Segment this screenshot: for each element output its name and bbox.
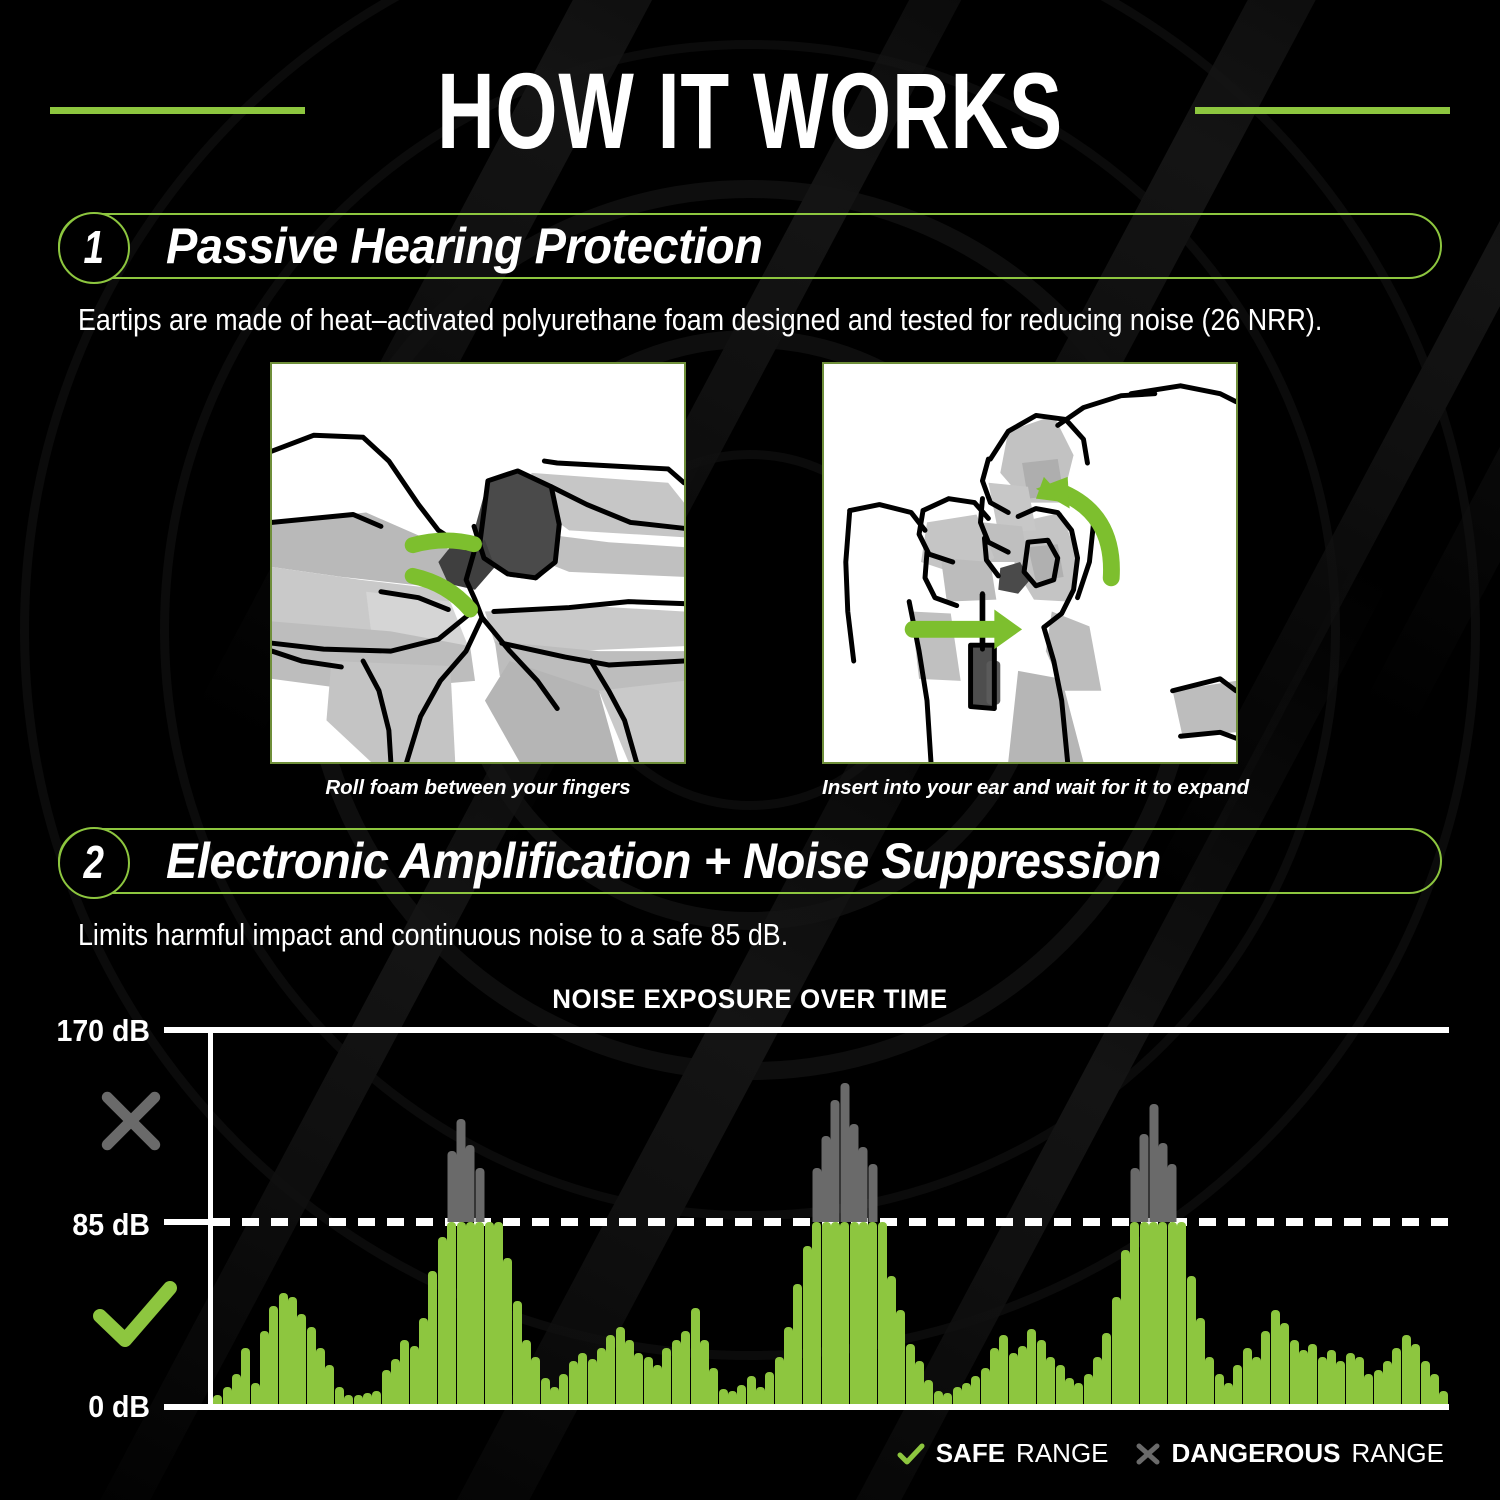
bar-slot	[1027, 1040, 1036, 1404]
bar-safe	[915, 1361, 924, 1404]
bar-safe	[934, 1391, 943, 1404]
bar-safe	[550, 1387, 559, 1404]
bar-slot	[952, 1040, 961, 1404]
bar-slot	[438, 1040, 447, 1404]
bar-slot	[1317, 1040, 1326, 1404]
bar-safe	[793, 1284, 802, 1404]
bar-safe	[372, 1391, 381, 1404]
bar-safe	[728, 1391, 737, 1404]
bar-safe	[1074, 1383, 1083, 1404]
bar-slot	[662, 1040, 671, 1404]
bar-safe	[672, 1340, 681, 1404]
bar-safe	[634, 1353, 643, 1404]
bar-slot	[1009, 1040, 1018, 1404]
title-rule-right	[1195, 107, 1450, 114]
bar-slot	[260, 1040, 269, 1404]
bar-slot	[709, 1040, 718, 1404]
bar-slot	[1205, 1040, 1214, 1404]
bar-slot	[896, 1040, 905, 1404]
caption-roll-foam: Roll foam between your fingers	[270, 776, 686, 800]
bar-safe	[1084, 1374, 1093, 1404]
bar-slot	[840, 1040, 849, 1404]
bar-safe	[1411, 1344, 1420, 1404]
bar-safe	[251, 1383, 260, 1404]
bar-safe	[241, 1348, 250, 1404]
y-tick-0: 0 dB	[12, 1389, 150, 1425]
bar-slot	[316, 1040, 325, 1404]
bar-slot	[456, 1040, 465, 1404]
bar-slot	[410, 1040, 419, 1404]
bar-safe	[700, 1340, 709, 1404]
bar-safe	[1121, 1250, 1130, 1404]
bar-safe	[503, 1258, 512, 1404]
bar-danger	[831, 1100, 840, 1222]
bar-safe	[344, 1395, 353, 1404]
bar-safe	[653, 1365, 662, 1404]
bar-safe	[316, 1348, 325, 1404]
bar-slot	[859, 1040, 868, 1404]
bar-slot	[690, 1040, 699, 1404]
bar-slot	[980, 1040, 989, 1404]
bar-slot	[297, 1040, 306, 1404]
legend-dangerous-strong: DANGEROUS	[1172, 1438, 1341, 1469]
bar-slot	[1308, 1040, 1317, 1404]
bar-slot	[644, 1040, 653, 1404]
bar-safe	[1177, 1222, 1186, 1404]
bar-safe	[1102, 1333, 1111, 1404]
bar-safe	[850, 1222, 859, 1404]
bar-safe	[288, 1297, 297, 1404]
bar-safe	[1130, 1222, 1139, 1404]
bar-slot	[213, 1040, 222, 1404]
bar-slot	[803, 1040, 812, 1404]
bar-slot	[1074, 1040, 1083, 1404]
bar-safe	[1158, 1222, 1167, 1404]
bar-slot	[1224, 1040, 1233, 1404]
bar-slot	[1102, 1040, 1111, 1404]
bar-slot	[391, 1040, 400, 1404]
bar-slot	[1336, 1040, 1345, 1404]
bar-safe	[606, 1335, 615, 1404]
bar-slot	[615, 1040, 624, 1404]
bar-slot	[269, 1040, 278, 1404]
bar-safe	[906, 1344, 915, 1404]
bar-slot	[625, 1040, 634, 1404]
bar-safe	[1065, 1378, 1074, 1404]
bar-safe	[644, 1357, 653, 1404]
bar-slot	[447, 1040, 456, 1404]
bar-slot	[569, 1040, 578, 1404]
bar-safe	[868, 1222, 877, 1404]
bar-safe	[765, 1372, 774, 1404]
bar-safe	[831, 1222, 840, 1404]
bar-danger	[457, 1119, 466, 1222]
bar-safe	[1290, 1340, 1299, 1404]
bar-safe	[803, 1246, 812, 1404]
bar-safe	[1205, 1357, 1214, 1404]
bar-safe	[578, 1353, 587, 1404]
bar-safe	[1327, 1350, 1336, 1404]
bar-slot	[587, 1040, 596, 1404]
bar-slot	[1383, 1040, 1392, 1404]
bar-slot	[943, 1040, 952, 1404]
axis-baseline	[164, 1404, 1449, 1410]
bar-slot	[1374, 1040, 1383, 1404]
bar-slot	[606, 1040, 615, 1404]
bar-slot	[700, 1040, 709, 1404]
bar-safe	[1168, 1222, 1177, 1404]
bar-safe	[784, 1327, 793, 1404]
bar-slot	[672, 1040, 681, 1404]
bar-slot	[1299, 1040, 1308, 1404]
step-1-title: Passive Hearing Protection	[166, 217, 762, 275]
bar-safe	[1149, 1222, 1158, 1404]
bar-safe	[335, 1387, 344, 1404]
bar-slot	[419, 1040, 428, 1404]
bar-slot	[1130, 1040, 1139, 1404]
step-2-header: 2 Electronic Amplification + Noise Suppr…	[58, 828, 1442, 894]
bar-safe	[812, 1222, 821, 1404]
bar-safe	[447, 1222, 456, 1404]
bar-slot	[1083, 1040, 1092, 1404]
bar-slot	[887, 1040, 896, 1404]
bar-slot	[475, 1040, 484, 1404]
bar-safe	[1027, 1329, 1036, 1404]
bar-safe	[1336, 1361, 1345, 1404]
title-rule-left	[50, 107, 305, 114]
bar-safe	[457, 1222, 466, 1404]
bar-safe	[232, 1374, 241, 1404]
bar-safe	[597, 1348, 606, 1404]
bar-slot	[906, 1040, 915, 1404]
tick-mark-85	[164, 1219, 214, 1225]
bar-danger	[1158, 1143, 1167, 1222]
bar-slot	[222, 1040, 231, 1404]
bar-danger	[850, 1124, 859, 1222]
bar-slot	[381, 1040, 390, 1404]
bar-safe	[494, 1222, 503, 1404]
bar-safe	[297, 1314, 306, 1404]
x-icon	[1135, 1442, 1161, 1466]
bar-slot	[681, 1040, 690, 1404]
chart-title: NOISE EXPOSURE OVER TIME	[30, 984, 1470, 1015]
bar-slot	[1402, 1040, 1411, 1404]
bar-safe	[354, 1395, 363, 1404]
infographic-root: HOW IT WORKS 1 Passive Hearing Protectio…	[0, 0, 1500, 1500]
bar-safe	[840, 1222, 849, 1404]
bar-safe	[541, 1378, 550, 1404]
chart-legend: SAFE RANGE DANGEROUS RANGE	[897, 1438, 1444, 1469]
bar-safe	[1374, 1370, 1383, 1404]
bar-slot	[353, 1040, 362, 1404]
illustration-roll-foam	[270, 362, 686, 764]
bar-slot	[241, 1040, 250, 1404]
bar-slot	[1345, 1040, 1354, 1404]
bar-safe	[1383, 1361, 1392, 1404]
bar-slot	[344, 1040, 353, 1404]
bar-slot	[971, 1040, 980, 1404]
bar-safe	[363, 1393, 372, 1404]
bar-slot	[541, 1040, 550, 1404]
bar-safe	[1271, 1310, 1280, 1404]
step-1-body: Eartips are made of heat–activated polyu…	[78, 303, 1322, 338]
bar-danger	[840, 1083, 849, 1222]
bar-safe	[1233, 1365, 1242, 1404]
bar-slot	[849, 1040, 858, 1404]
bar-slot	[597, 1040, 606, 1404]
bar-slot	[1327, 1040, 1336, 1404]
bar-slot	[793, 1040, 802, 1404]
bar-danger	[1149, 1104, 1158, 1222]
bar-safe	[513, 1301, 522, 1404]
bar-slot	[400, 1040, 409, 1404]
y-tick-170: 170 dB	[12, 1013, 150, 1049]
bar-safe	[756, 1387, 765, 1404]
bar-safe	[691, 1308, 700, 1404]
bar-slot	[1177, 1040, 1186, 1404]
bar-safe	[428, 1271, 437, 1404]
bar-slot	[1158, 1040, 1167, 1404]
bar-slot	[924, 1040, 933, 1404]
bar-safe	[1280, 1323, 1289, 1404]
bar-slot	[728, 1040, 737, 1404]
bar-safe	[260, 1331, 269, 1404]
bar-slot	[484, 1040, 493, 1404]
bar-safe	[1364, 1374, 1373, 1404]
bar-safe	[269, 1306, 278, 1404]
bar-safe	[1299, 1350, 1308, 1404]
bar-safe	[1215, 1374, 1224, 1404]
step-2-title: Electronic Amplification + Noise Suppres…	[166, 832, 1161, 890]
bar-danger	[1140, 1134, 1149, 1222]
bar-slot	[559, 1040, 568, 1404]
bar-safe	[213, 1395, 222, 1404]
bar-slot	[1280, 1040, 1289, 1404]
bar-slot	[1243, 1040, 1252, 1404]
bar-safe	[924, 1380, 933, 1404]
bar-slot	[878, 1040, 887, 1404]
bar-slot	[1065, 1040, 1074, 1404]
bar-safe	[775, 1357, 784, 1404]
y-tick-85: 85 dB	[12, 1207, 150, 1243]
legend-safe-regular: RANGE	[1016, 1438, 1108, 1469]
bar-slot	[335, 1040, 344, 1404]
bar-safe	[859, 1222, 868, 1404]
bar-slot	[999, 1040, 1008, 1404]
bar-slot	[1364, 1040, 1373, 1404]
step-1-header: 1 Passive Hearing Protection	[58, 213, 1442, 279]
bar-safe	[438, 1237, 447, 1404]
bar-safe	[1346, 1353, 1355, 1404]
bar-safe	[1261, 1331, 1270, 1404]
bar-safe	[279, 1293, 288, 1404]
bar-slot	[831, 1040, 840, 1404]
bar-slot	[250, 1040, 259, 1404]
bar-safe	[569, 1361, 578, 1404]
bar-slot	[1055, 1040, 1064, 1404]
bar-safe	[719, 1389, 728, 1404]
bar-slot	[232, 1040, 241, 1404]
bar-slot	[1186, 1040, 1195, 1404]
step-2-body: Limits harmful impact and continuous noi…	[78, 918, 788, 953]
bar-slot	[513, 1040, 522, 1404]
bar-slot	[279, 1040, 288, 1404]
bar-slot	[737, 1040, 746, 1404]
legend-item-safe: SAFE RANGE	[897, 1438, 1109, 1469]
bar-safe	[1009, 1353, 1018, 1404]
bar-safe	[466, 1222, 475, 1404]
bar-safe	[1243, 1348, 1252, 1404]
bar-safe	[1112, 1297, 1121, 1404]
bar-safe	[709, 1368, 718, 1404]
bar-slot	[550, 1040, 559, 1404]
bar-slot	[1233, 1040, 1242, 1404]
bar-slot	[746, 1040, 755, 1404]
bar-safe	[1224, 1383, 1233, 1404]
bar-safe	[971, 1376, 980, 1404]
bar-slot	[1168, 1040, 1177, 1404]
bar-safe	[559, 1374, 568, 1404]
bar-safe	[981, 1368, 990, 1404]
bar-slot	[288, 1040, 297, 1404]
bar-safe	[391, 1359, 400, 1404]
bar-slot	[775, 1040, 784, 1404]
bar-safe	[410, 1346, 419, 1404]
bar-slot	[990, 1040, 999, 1404]
page-title: HOW IT WORKS	[0, 48, 1500, 173]
bar-safe	[307, 1327, 316, 1404]
bar-slot	[325, 1040, 334, 1404]
bar-safe	[1392, 1348, 1401, 1404]
illustration-insert-ear	[822, 362, 1238, 764]
bar-danger	[868, 1164, 877, 1222]
step-1-number: 1	[84, 224, 104, 273]
bar-slot	[1420, 1040, 1429, 1404]
bar-safe	[1187, 1276, 1196, 1404]
bar-safe	[400, 1340, 409, 1404]
bar-slot	[1140, 1040, 1149, 1404]
bar-slot	[1411, 1040, 1420, 1404]
check-icon	[92, 1278, 178, 1348]
bar-safe	[1093, 1357, 1102, 1404]
bar-slot	[503, 1040, 512, 1404]
bar-danger	[812, 1168, 821, 1222]
bar-safe	[747, 1376, 756, 1404]
legend-item-dangerous: DANGEROUS RANGE	[1135, 1438, 1444, 1469]
bar-safe	[990, 1348, 999, 1404]
bar-danger	[822, 1136, 831, 1222]
legend-dangerous-regular: RANGE	[1352, 1438, 1444, 1469]
bar-safe	[1252, 1357, 1261, 1404]
bar-slot	[466, 1040, 475, 1404]
bar-slot	[1121, 1040, 1130, 1404]
bar-safe	[1018, 1346, 1027, 1404]
bar-slot	[718, 1040, 727, 1404]
bar-safe	[485, 1222, 494, 1404]
bar-safe	[475, 1222, 484, 1404]
bar-danger	[1168, 1164, 1177, 1222]
bar-safe	[962, 1383, 971, 1404]
bar-safe	[953, 1387, 962, 1404]
bar-safe	[1421, 1361, 1430, 1404]
bar-safe	[943, 1393, 952, 1404]
bar-safe	[822, 1222, 831, 1404]
bar-safe	[1140, 1222, 1149, 1404]
bar-slot	[634, 1040, 643, 1404]
bar-slot	[1289, 1040, 1298, 1404]
bar-danger	[466, 1145, 475, 1222]
bar-slot	[915, 1040, 924, 1404]
bar-safe	[1196, 1318, 1205, 1404]
bar-slot	[1252, 1040, 1261, 1404]
x-icon	[92, 1082, 170, 1160]
bar-slot	[1214, 1040, 1223, 1404]
bar-safe	[522, 1340, 531, 1404]
bar-slot	[1112, 1040, 1121, 1404]
bar-slot	[765, 1040, 774, 1404]
bar-safe	[325, 1365, 334, 1404]
bar-safe	[419, 1318, 428, 1404]
caption-insert-ear: Insert into your ear and wait for it to …	[822, 776, 1238, 800]
step-1-number-badge: 1	[58, 212, 130, 284]
bar-slot	[363, 1040, 372, 1404]
bar-danger	[475, 1168, 484, 1222]
bar-slot	[784, 1040, 793, 1404]
bar-safe	[1355, 1357, 1364, 1404]
bar-safe	[1056, 1365, 1065, 1404]
bar-slot	[428, 1040, 437, 1404]
bar-slot	[531, 1040, 540, 1404]
bar-slot	[1430, 1040, 1439, 1404]
bar-slot	[307, 1040, 316, 1404]
bar-safe	[1318, 1357, 1327, 1404]
bar-safe	[1037, 1340, 1046, 1404]
bar-slot	[962, 1040, 971, 1404]
step-2-number-badge: 2	[58, 827, 130, 899]
bar-slot	[821, 1040, 830, 1404]
bar-safe	[625, 1340, 634, 1404]
page-title-text: HOW IT WORKS	[437, 57, 1063, 165]
bar-slot	[1439, 1040, 1448, 1404]
bar-safe	[662, 1348, 671, 1404]
bar-slot	[653, 1040, 662, 1404]
bar-danger	[1130, 1168, 1139, 1222]
bar-slot	[1093, 1040, 1102, 1404]
bar-slot	[1261, 1040, 1270, 1404]
bar-danger	[447, 1151, 456, 1222]
bar-slot	[1196, 1040, 1205, 1404]
bar-slot	[756, 1040, 765, 1404]
legend-safe-strong: SAFE	[936, 1438, 1005, 1469]
bar-safe	[737, 1385, 746, 1404]
bar-slot	[934, 1040, 943, 1404]
bar-safe	[1046, 1357, 1055, 1404]
bar-slot	[1271, 1040, 1280, 1404]
bar-safe	[878, 1222, 887, 1404]
step-2-number: 2	[84, 839, 104, 888]
bar-slot	[1149, 1040, 1158, 1404]
bar-danger	[859, 1147, 868, 1222]
bar-slot	[494, 1040, 503, 1404]
bar-slot	[1046, 1040, 1055, 1404]
bar-slot	[1018, 1040, 1027, 1404]
bar-safe	[1430, 1374, 1439, 1404]
bar-slot	[372, 1040, 381, 1404]
bar-slot	[522, 1040, 531, 1404]
bar-safe	[382, 1370, 391, 1404]
bar-safe	[223, 1387, 232, 1404]
axis-top-line	[164, 1027, 1449, 1033]
